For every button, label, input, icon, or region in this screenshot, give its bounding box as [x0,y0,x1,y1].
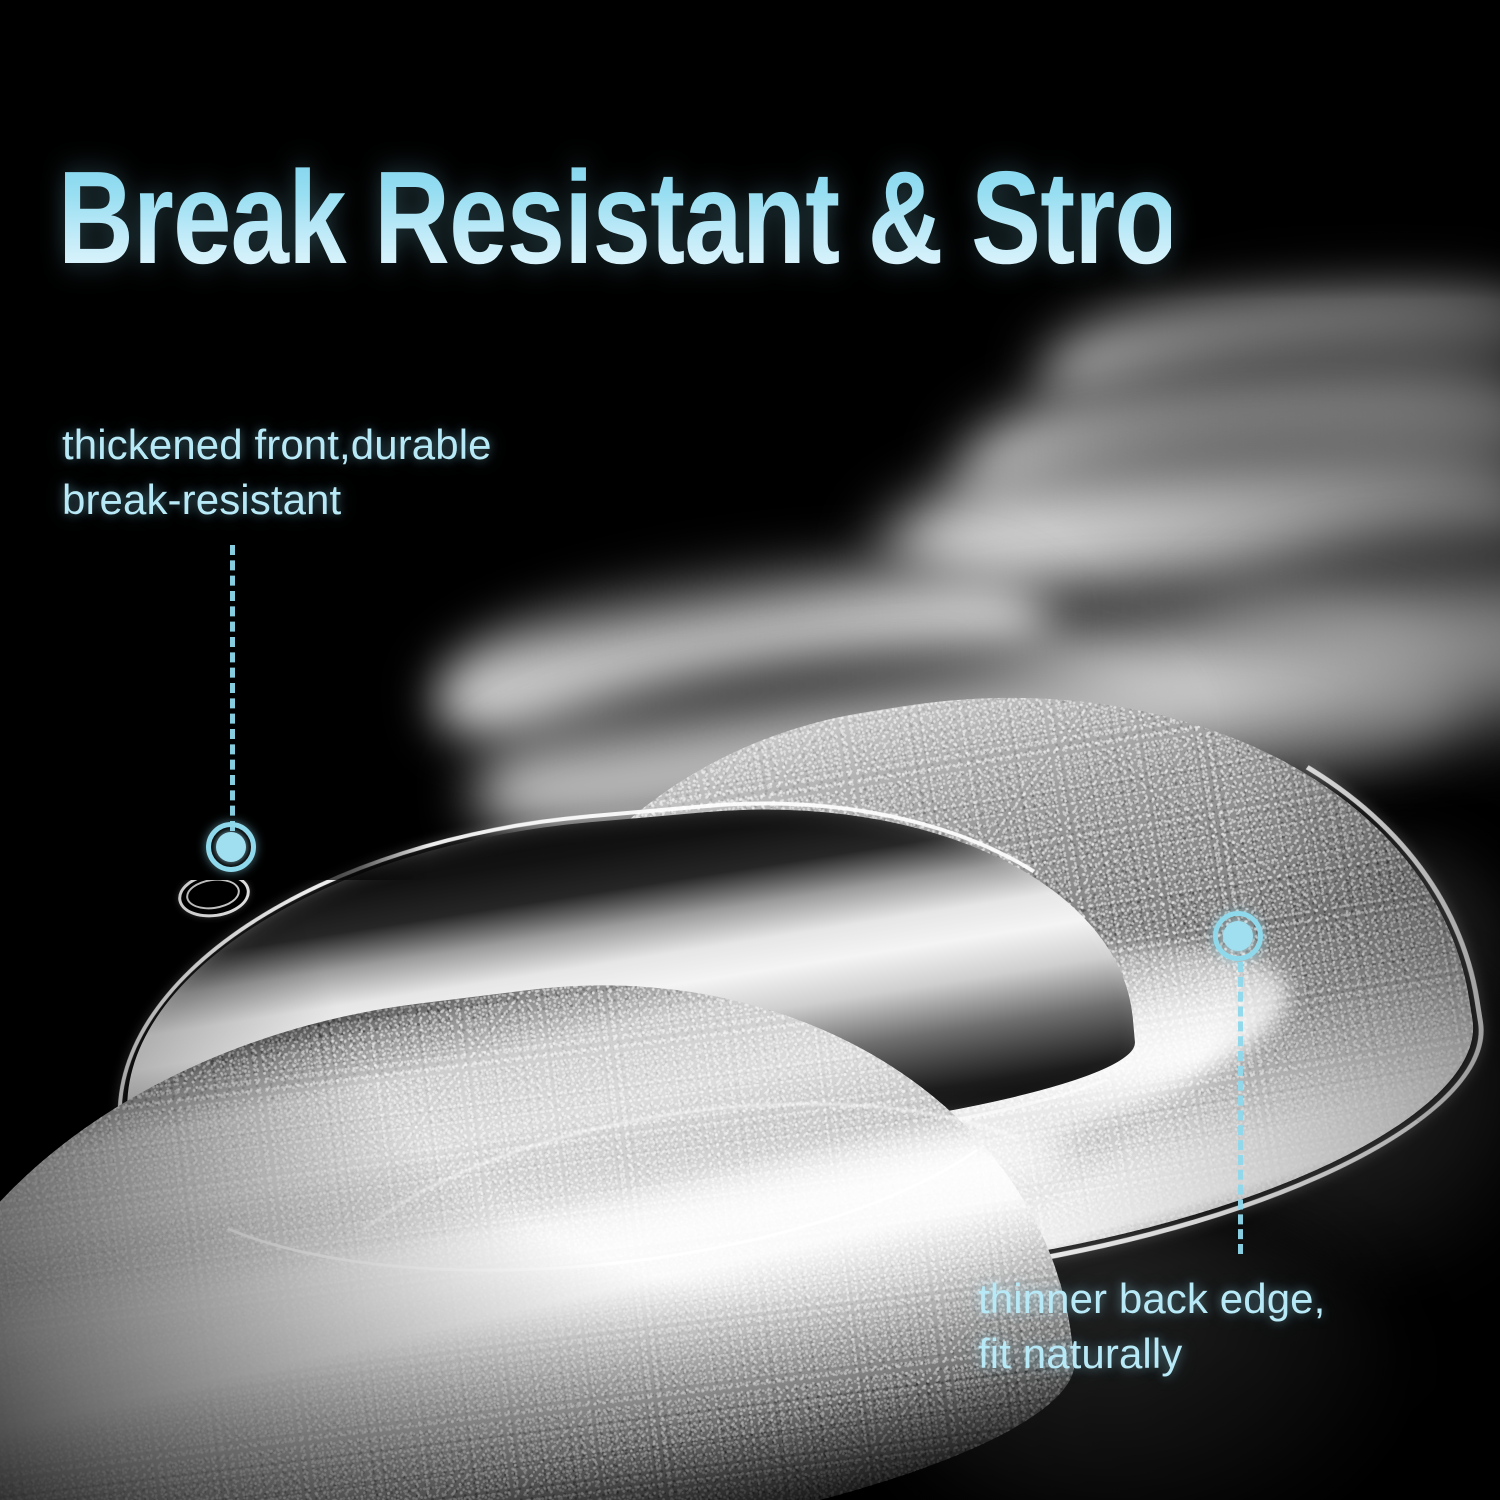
page-title: Break Resistant & Strong [58,152,1171,284]
callout-label-thickened-front: thickened front,durable break-resistant [62,418,492,527]
callout-marker-thinner-back-edge[interactable] [1213,911,1263,961]
callout-marker-thickened-front[interactable] [206,822,256,872]
promo-image-canvas: Break Resistant & Strong thickened front… [0,0,1500,1500]
callout-leader-line-thinner-back-edge [1238,962,1243,1254]
callout-leader-line-thickened-front [230,545,235,831]
callout-label-thinner-back-edge: thinner back edge, fit naturally [978,1272,1325,1381]
